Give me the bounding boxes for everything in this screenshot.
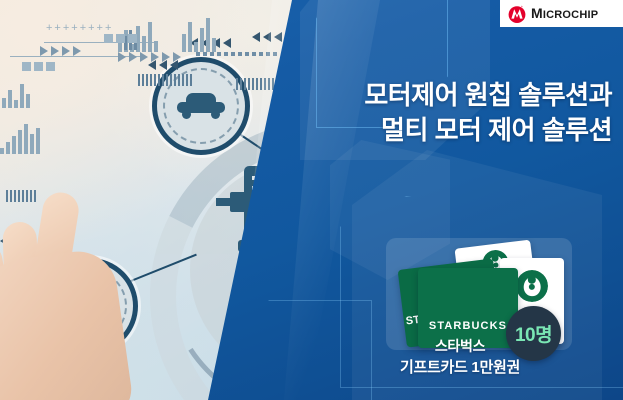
decal-dots xyxy=(196,52,277,56)
siren-ring xyxy=(514,268,550,304)
promo-banner: ++++++++ xyxy=(0,0,623,400)
logo-rest-letters: ICROCHIP xyxy=(543,9,598,21)
prize-caption: 스타벅스 기프트카드 1만원권 xyxy=(360,336,560,380)
decal-bars xyxy=(182,18,216,52)
gift-card-brand-front: STARBUCKS xyxy=(418,320,518,332)
car-icon xyxy=(152,57,250,155)
decal-triangles xyxy=(148,60,178,70)
microchip-wordmark: MICROCHIP xyxy=(531,6,598,21)
prize-caption-line-2: 기프트카드 1만원권 xyxy=(360,357,560,380)
hand-photo xyxy=(0,186,164,400)
decal-chart xyxy=(0,124,40,154)
decal-pluses: ++++++++ xyxy=(46,22,113,34)
headline-line-2: 멀티 모터 제어 솔루션 xyxy=(304,113,612,148)
logo-cap-letter: M xyxy=(531,5,543,21)
decal-squares xyxy=(104,34,137,43)
microchip-logo: MICROCHIP xyxy=(500,0,623,27)
page-title: 모터제어 원칩 솔루션과 멀티 모터 제어 솔루션 xyxy=(304,78,612,147)
prize-caption-line-1: 스타벅스 xyxy=(360,336,560,357)
decal-triangles xyxy=(40,46,81,56)
decal-squares xyxy=(22,62,55,71)
decal-ticks xyxy=(138,74,192,86)
decal-chart xyxy=(2,80,30,108)
microchip-m-shield-icon xyxy=(507,4,527,24)
headline-line-1: 모터제어 원칩 솔루션과 xyxy=(304,78,612,113)
